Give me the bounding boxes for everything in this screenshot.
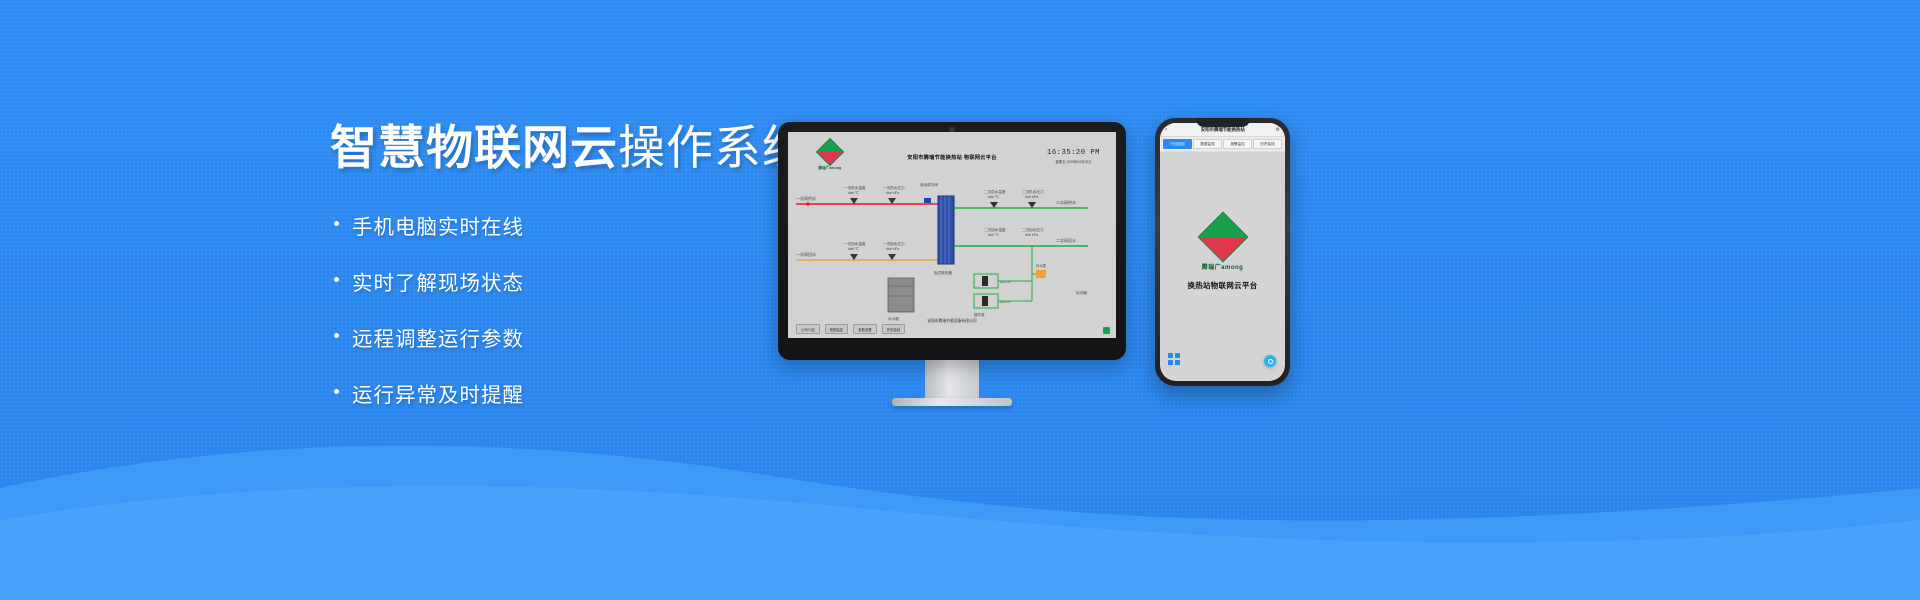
target-fab-icon[interactable]: [1264, 355, 1276, 367]
status-indicator-button[interactable]: [1103, 327, 1110, 334]
tab-video-monitor[interactable]: 视频监控: [825, 324, 849, 334]
grid-cell: [1168, 353, 1173, 358]
svg-text:一次网回水: 一次网回水: [796, 251, 816, 257]
svg-text:### ℃: ### ℃: [988, 195, 999, 199]
svg-text:除污器: 除污器: [1076, 290, 1087, 295]
gear-icon[interactable]: ⚙: [1276, 127, 1280, 133]
svg-text:### ℃: ### ℃: [848, 191, 859, 195]
tab-data-monitor[interactable]: 数据监视: [1193, 139, 1222, 149]
bullet-dot-icon: [334, 333, 339, 338]
phone-nav-title: 安阳市腾瑞节能换热站: [1170, 127, 1276, 133]
grid-menu-icon[interactable]: [1168, 353, 1180, 365]
scada-diagram: 一次网供水 一次供水温度 ### ℃ 一次供水压力 ### kPa 电动调节阀 …: [788, 174, 1116, 338]
svg-text:一次供水压力: 一次供水压力: [883, 185, 905, 190]
tab-industry-app[interactable]: 行业应用: [1163, 139, 1192, 149]
grid-cell: [1175, 360, 1180, 365]
svg-text:一次回水温度: 一次回水温度: [844, 241, 866, 246]
clock-date: 星期五 2025年04月25日: [1047, 159, 1100, 164]
monitor-bezel: 腾瑞广among 安阳市腾瑞节能换热站 物联网云平台 16:35:20 PM 星…: [778, 122, 1126, 360]
phone-hero: 腾瑞广among 换热站物联网云平台: [1160, 219, 1285, 291]
svg-text:循环泵: 循环泵: [974, 312, 985, 317]
scada-tab-bar[interactable]: 公司介绍 视频监控 参数设置 历史曲线: [796, 324, 905, 334]
svg-text:一次网供水: 一次网供水: [796, 195, 816, 201]
chevron-left-icon[interactable]: ‹: [1165, 127, 1167, 133]
monitor-stand-base: [892, 398, 1012, 406]
svg-text:一次供水温度: 一次供水温度: [844, 185, 866, 190]
clock-time: 16:35:20 PM: [1047, 149, 1100, 157]
promo-banner: 智慧物联网云操作系统 手机电脑实时在线 实时了解现场状态 远程调整运行参数 运行…: [0, 0, 1920, 600]
phone-logo-text: 腾瑞广among: [1160, 262, 1285, 271]
list-item-label: 运行异常及时提醒: [352, 384, 524, 407]
svg-text:### kPa: ### kPa: [886, 191, 899, 195]
svg-text:二次供水压力: 二次供水压力: [1022, 189, 1044, 194]
monitor-screen: 腾瑞广among 安阳市腾瑞节能换热站 物联网云平台 16:35:20 PM 星…: [788, 132, 1116, 338]
tab-param-settings[interactable]: 参数设置: [853, 324, 877, 334]
phone-screen: ‹ 安阳市腾瑞节能换热站 ⚙ 行业应用 数据监视 报警监控 历史曲线 腾瑞广am…: [1160, 123, 1285, 381]
bullet-dot-icon: [334, 389, 339, 394]
grid-cell: [1168, 360, 1173, 365]
list-item-label: 实时了解现场状态: [352, 272, 524, 295]
monitor-stand-neck: [925, 360, 979, 398]
svg-text:电动调节阀: 电动调节阀: [920, 182, 938, 187]
svg-text:二次回水压力: 二次回水压力: [1022, 227, 1044, 232]
phone-tab-bar[interactable]: 行业应用 数据监视 报警监控 历史曲线: [1160, 137, 1285, 152]
svg-text:### ℃: ### ℃: [848, 247, 859, 251]
svg-text:### ℃: ### ℃: [988, 233, 999, 237]
tab-history-curve[interactable]: 历史曲线: [1253, 139, 1282, 149]
bullet-dot-icon: [334, 221, 339, 226]
bullet-dot-icon: [334, 277, 339, 282]
phone-frame: ‹ 安阳市腾瑞节能换热站 ⚙ 行业应用 数据监视 报警监控 历史曲线 腾瑞广am…: [1155, 118, 1290, 386]
svg-text:一次回水压力: 一次回水压力: [883, 241, 905, 246]
svg-text:二次网回水: 二次网回水: [1056, 237, 1076, 243]
scada-clock: 16:35:20 PM 星期五 2025年04月25日: [1047, 149, 1100, 164]
svg-text:### kPa: ### kPa: [886, 247, 899, 251]
svg-text:板式换热器: 板式换热器: [934, 270, 952, 275]
tab-alarm-monitor[interactable]: 报警监控: [1223, 139, 1252, 149]
svg-text:### kPa: ### kPa: [1025, 233, 1038, 237]
svg-text:二次网供水: 二次网供水: [1056, 199, 1076, 205]
diamond-logo-icon: [1197, 212, 1248, 263]
svg-text:### kPa: ### kPa: [1025, 195, 1038, 199]
tab-history-curve[interactable]: 历史曲线: [882, 324, 906, 334]
list-item-label: 手机电脑实时在线: [352, 216, 524, 239]
list-item-label: 远程调整运行参数: [352, 328, 524, 351]
svg-text:二次供水温度: 二次供水温度: [984, 189, 1006, 194]
desktop-monitor-mockup: 腾瑞广among 安阳市腾瑞节能换热站 物联网云平台 16:35:20 PM 星…: [778, 122, 1126, 422]
phone-hero-title: 换热站物联网云平台: [1160, 280, 1285, 291]
phone-notch: [1196, 118, 1250, 127]
svg-text:补水泵: 补水泵: [1036, 263, 1047, 268]
grid-cell: [1175, 353, 1180, 358]
diamond-logo-icon: [816, 138, 844, 166]
headline-strong: 智慧物联网云: [330, 121, 618, 174]
smartphone-mockup: ‹ 安阳市腾瑞节能换热站 ⚙ 行业应用 数据监视 报警监控 历史曲线 腾瑞广am…: [1155, 118, 1290, 386]
svg-text:二次回水温度: 二次回水温度: [984, 227, 1006, 232]
tab-company-intro[interactable]: 公司介绍: [796, 324, 820, 334]
